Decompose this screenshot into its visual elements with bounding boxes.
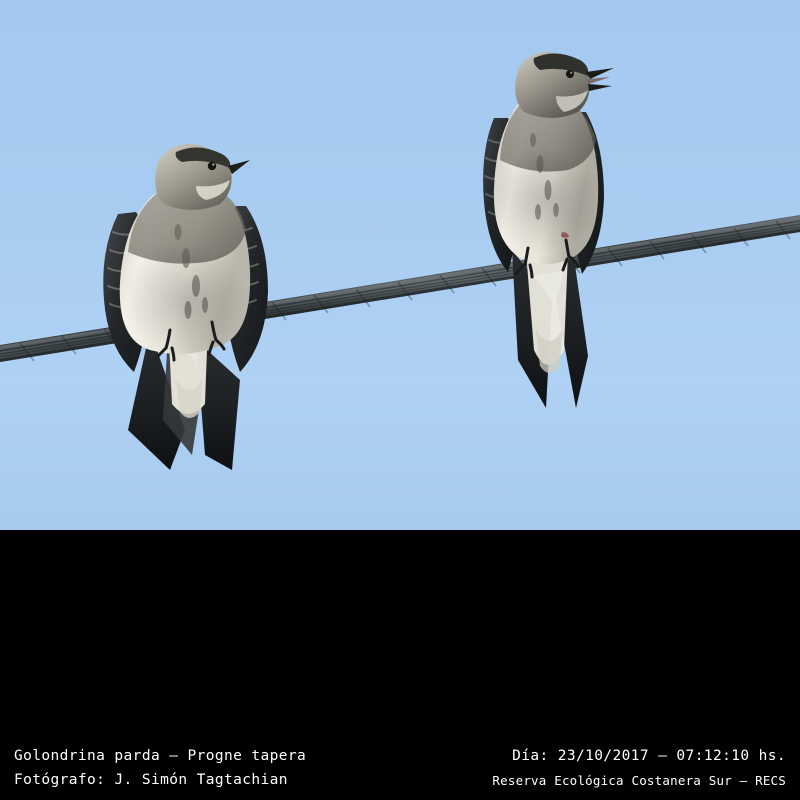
photo-scene (0, 0, 800, 530)
bird-photograph (0, 0, 800, 530)
footer-datetime: Día: 23/10/2017 — 07:12:10 hs. (512, 748, 786, 764)
photo-card: Golondrina parda Brown-chested Martin Pr… (0, 0, 800, 800)
footer-location: Reserva Ecológica Costanera Sur — RECS (492, 773, 786, 788)
footer-photographer: Fotógrafo: J. Simón Tagtachian (14, 772, 288, 788)
footer-species-line: Golondrina parda — Progne tapera (14, 748, 306, 764)
